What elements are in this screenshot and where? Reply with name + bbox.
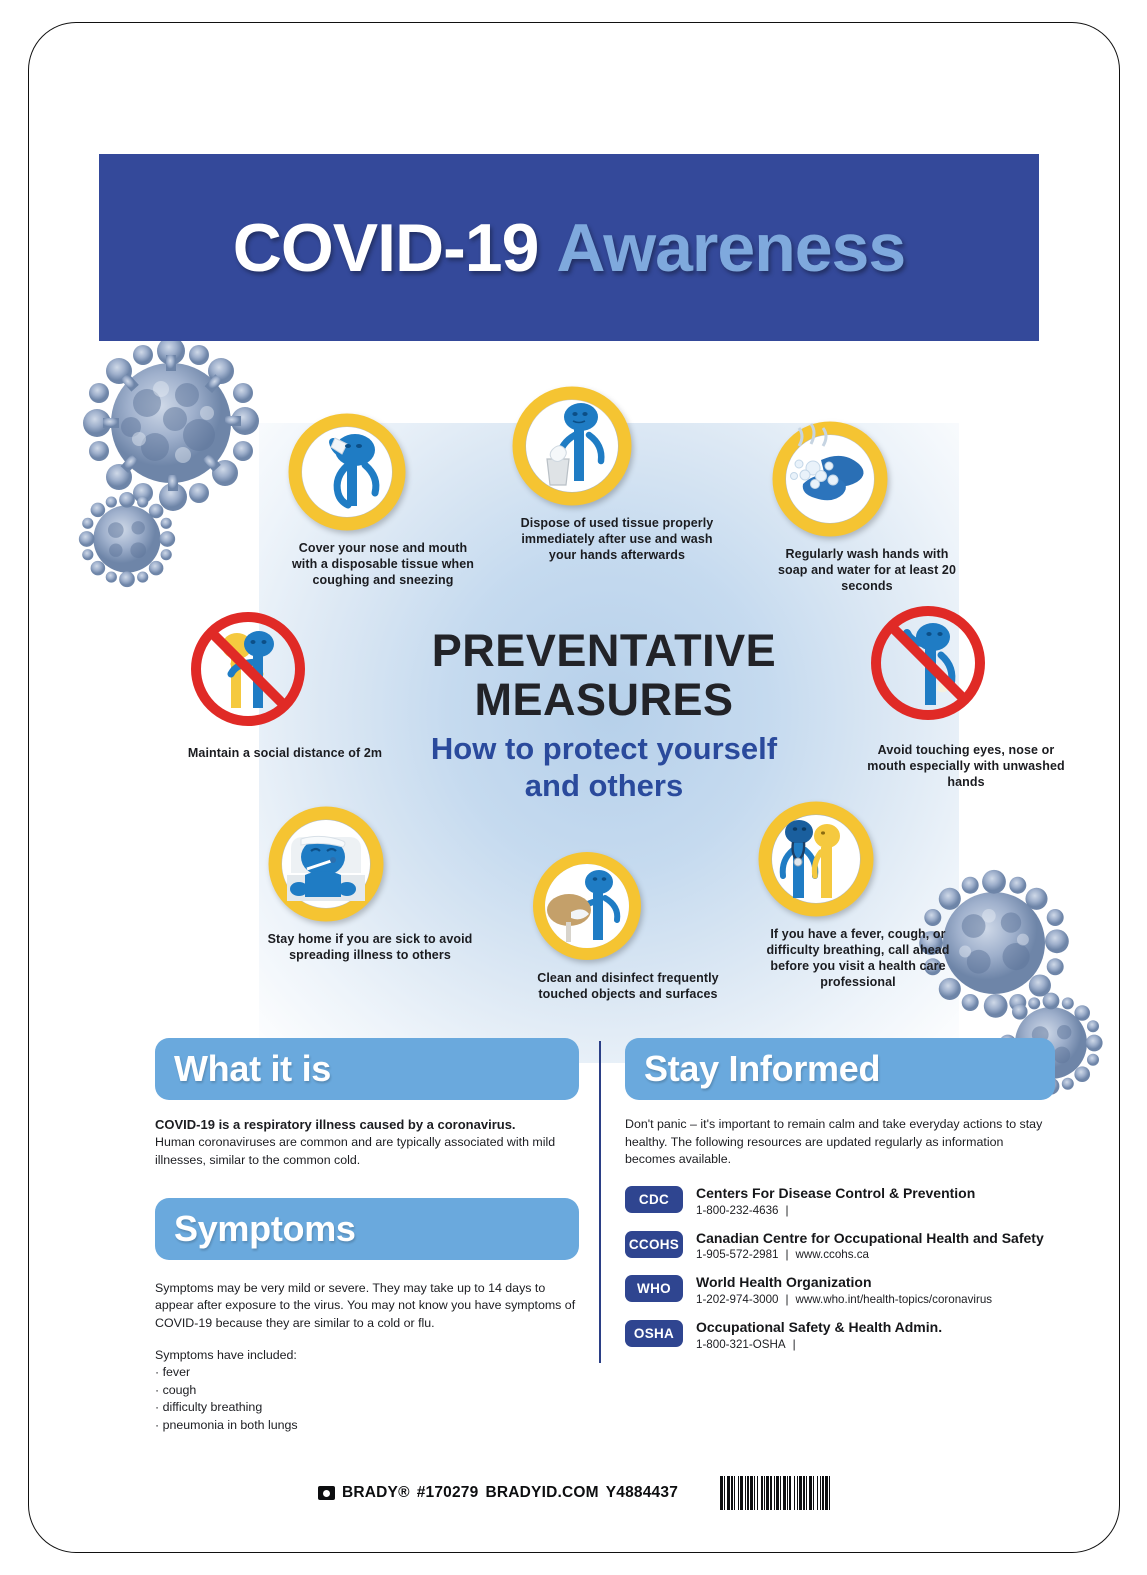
left-info-column: What it is COVID-19 is a respiratory ill…	[155, 1038, 579, 1435]
column-divider	[599, 1041, 601, 1363]
resource-name: Canadian Centre for Occupational Health …	[696, 1230, 1044, 1247]
measure-caption: Regularly wash hands with soap and water…	[769, 546, 965, 594]
resource-badge: OSHA	[625, 1320, 683, 1347]
resource-row-osha[interactable]: OSHA Occupational Safety & Health Admin.…	[625, 1319, 1055, 1351]
measure-tile-no-face-touching: Avoid touching eyes, nose or mouth espec…	[861, 601, 1071, 790]
dispose-tissue-icon	[509, 383, 725, 509]
resource-row-who[interactable]: WHO World Health Organization 1-202-974-…	[625, 1274, 1055, 1306]
brady-credit: BRADY® #170279 BRADYID.COM Y4884437	[318, 1484, 678, 1502]
cough-into-tissue-icon	[285, 410, 481, 534]
measure-caption: Maintain a social distance of 2m	[181, 745, 389, 761]
measure-caption: If you have a fever, cough, or difficult…	[755, 926, 961, 990]
title-awareness: Awareness	[556, 210, 905, 286]
resource-name: Occupational Safety & Health Admin.	[696, 1319, 942, 1336]
disinfect-surfaces-icon	[529, 848, 727, 964]
stay-informed-header: Stay Informed	[625, 1038, 1055, 1100]
measure-tile-cough-into-tissue: Cover your nose and mouth with a disposa…	[285, 410, 481, 588]
virus-particle-icon	[71, 483, 183, 595]
resource-phone[interactable]: 1-800-232-4636	[696, 1204, 779, 1217]
measure-tile-social-distance: Maintain a social distance of 2m	[181, 604, 389, 761]
measure-caption: Avoid touching eyes, nose or mouth espec…	[861, 742, 1071, 790]
symptom-item: · difficulty breathing	[155, 1399, 579, 1417]
wash-hands-icon	[769, 418, 965, 540]
measure-tile-disinfect-surfaces: Clean and disinfect frequently touched o…	[529, 848, 727, 1002]
symptoms-intro: Symptoms may be very mild or severe. The…	[155, 1280, 579, 1333]
resource-url[interactable]: www.ccohs.ca	[796, 1248, 869, 1261]
poster-sign: COVID-19 Awareness	[28, 22, 1120, 1553]
brady-logo-icon	[318, 1486, 335, 1500]
measure-caption: Clean and disinfect frequently touched o…	[529, 970, 727, 1002]
headline-line-1: PREVENTATIVE	[359, 627, 849, 676]
what-it-is-body: Human coronaviruses are common and are t…	[155, 1134, 579, 1169]
barcode	[720, 1476, 832, 1510]
symptoms-header: Symptoms	[155, 1198, 579, 1260]
title-covid: COVID-19	[233, 210, 539, 286]
resource-row-ccohs[interactable]: CCOHS Canadian Centre for Occupational H…	[625, 1230, 1055, 1262]
page-title: COVID-19 Awareness	[233, 214, 905, 282]
stay-informed-title: Stay Informed	[644, 1048, 880, 1090]
stay-informed-intro: Don't panic – it's important to remain c…	[625, 1116, 1055, 1169]
resource-list: CDC Centers For Disease Control & Preven…	[625, 1185, 1055, 1351]
brady-part-number: #170279	[417, 1484, 479, 1502]
resource-name: World Health Organization	[696, 1274, 992, 1291]
what-it-is-header: What it is	[155, 1038, 579, 1100]
resource-phone[interactable]: 1-202-974-3000	[696, 1293, 779, 1306]
brady-website: BRADYID.COM	[485, 1484, 598, 1502]
symptom-item: · cough	[155, 1382, 579, 1400]
brady-sku: Y4884437	[606, 1484, 678, 1502]
symptoms-list-label: Symptoms have included:	[155, 1347, 579, 1365]
symptoms-title: Symptoms	[174, 1208, 356, 1250]
resource-badge: WHO	[625, 1275, 683, 1302]
measure-caption: Cover your nose and mouth with a disposa…	[285, 540, 481, 588]
resource-phone[interactable]: 1-905-572-2981	[696, 1248, 779, 1261]
no-face-touching-icon	[861, 601, 1071, 736]
measure-tile-wash-hands: Regularly wash hands with soap and water…	[769, 418, 965, 594]
call-ahead-doctor-icon	[755, 798, 961, 920]
right-info-column: Stay Informed Don't panic – it's importa…	[625, 1038, 1055, 1351]
symptom-item: · pneumonia in both lungs	[155, 1417, 579, 1435]
measure-tile-stay-home: Stay home if you are sick to avoid sprea…	[265, 803, 475, 963]
stay-home-sick-icon	[265, 803, 475, 925]
headline-line-2: MEASURES	[359, 676, 849, 725]
measure-caption: Stay home if you are sick to avoid sprea…	[265, 931, 475, 963]
headline-sub-1: How to protect yourself	[359, 731, 849, 768]
brady-brand: BRADY®	[342, 1484, 410, 1502]
measure-tile-dispose-tissue: Dispose of used tissue properly immediat…	[509, 383, 725, 563]
symptom-item: · fever	[155, 1364, 579, 1382]
resource-phone[interactable]: 1-800-321-OSHA	[696, 1338, 786, 1351]
center-headline: PREVENTATIVE MEASURES How to protect you…	[359, 627, 849, 804]
resource-name: Centers For Disease Control & Prevention	[696, 1185, 975, 1202]
resource-row-cdc[interactable]: CDC Centers For Disease Control & Preven…	[625, 1185, 1055, 1217]
no-close-contact-icon	[181, 604, 389, 739]
resource-badge: CDC	[625, 1186, 683, 1213]
resource-badge: CCOHS	[625, 1231, 683, 1258]
measure-caption: Dispose of used tissue properly immediat…	[509, 515, 725, 563]
footer: BRADY® #170279 BRADYID.COM Y4884437	[29, 1476, 1120, 1510]
resource-url[interactable]: www.who.int/health-topics/coronavirus	[796, 1293, 993, 1306]
measure-tile-call-ahead: If you have a fever, cough, or difficult…	[755, 798, 961, 990]
what-it-is-lead: COVID-19 is a respiratory illness caused…	[155, 1116, 579, 1134]
virus-particle-icon	[71, 323, 271, 523]
what-it-is-title: What it is	[174, 1048, 331, 1090]
header-banner: COVID-19 Awareness	[99, 154, 1039, 341]
